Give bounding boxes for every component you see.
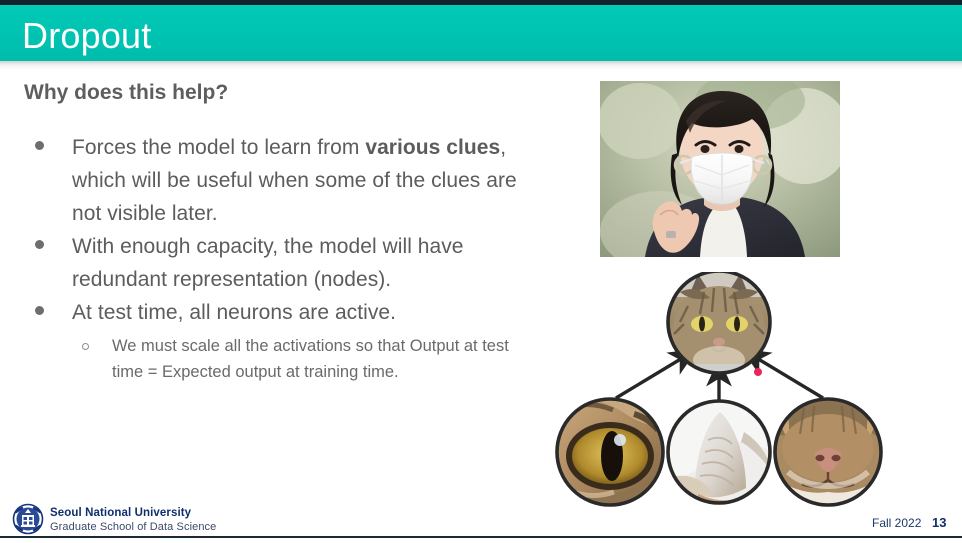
- list-item: At test time, all neurons are active.: [24, 296, 544, 329]
- section-subheading: Why does this help?: [24, 80, 228, 106]
- title-bar-shadow: [0, 61, 962, 70]
- slide-canvas: Dropout Why does this help? Forces the m…: [0, 0, 962, 543]
- cat-feature-diagram-graphic: [548, 272, 893, 507]
- cat-face-node: [668, 272, 773, 382]
- sub-list-item-text: We must scale all the activations so tha…: [112, 333, 544, 385]
- list-item-text: With enough capacity, the model will hav…: [72, 230, 544, 296]
- bullet-list: Forces the model to learn from various c…: [24, 131, 544, 385]
- bullet-dot-icon: [35, 141, 44, 150]
- list-item-text: Forces the model to learn from various c…: [72, 131, 544, 230]
- person-photo-graphic: [600, 81, 840, 257]
- bullet-dot-icon: [35, 306, 44, 315]
- cursor-pointer-dot: [754, 368, 762, 376]
- footer-divider: [0, 536, 962, 538]
- cat-ear-node: [668, 401, 771, 507]
- snu-logo-icon: [10, 503, 46, 535]
- bullet-text-bold: various clues: [365, 136, 500, 159]
- list-item: With enough capacity, the model will hav…: [24, 230, 544, 296]
- list-item: Forces the model to learn from various c…: [24, 131, 544, 230]
- hollow-bullet-dot-icon: [82, 343, 89, 350]
- page-title: Dropout: [22, 15, 151, 57]
- title-bar: Dropout: [0, 5, 962, 61]
- cat-nose-node: [775, 399, 881, 505]
- footer-org-name: Seoul National University: [50, 507, 191, 519]
- list-item-text: At test time, all neurons are active.: [72, 296, 544, 329]
- bullet-text-pre: Forces the model to learn from: [72, 136, 365, 159]
- footer-org-sub: Graduate School of Data Science: [50, 521, 216, 533]
- cat-feature-diagram: [548, 272, 893, 507]
- person-photo: [600, 81, 840, 257]
- footer-term: Fall 2022: [872, 516, 921, 530]
- cat-eye-node: [557, 398, 663, 505]
- sub-list-item: We must scale all the activations so tha…: [24, 333, 544, 385]
- bullet-dot-icon: [35, 240, 44, 249]
- page-number: 13: [932, 515, 946, 530]
